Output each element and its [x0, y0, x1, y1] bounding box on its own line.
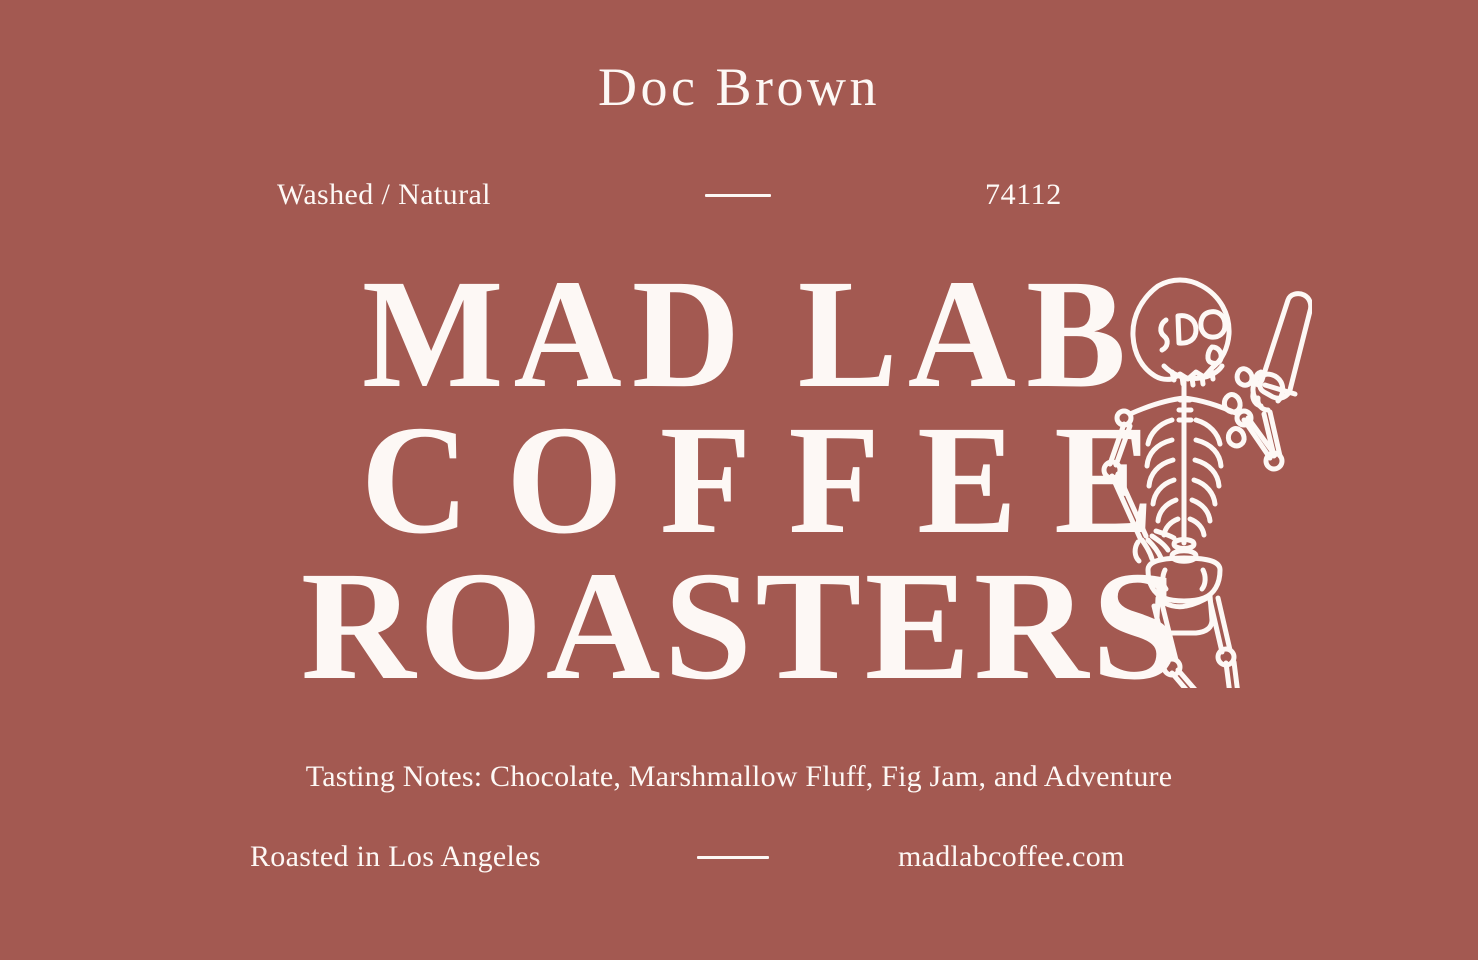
divider-rule-top-icon	[705, 194, 771, 197]
meta-row: Washed / Natural 74112	[0, 175, 1478, 215]
wordmark-line-coffee: COFFEE	[0, 402, 1478, 558]
footer-row: Roasted in Los Angeles madlabcoffee.com	[0, 836, 1478, 878]
divider-rule-bottom-icon	[697, 856, 769, 859]
lot-number: 74112	[985, 175, 1062, 215]
website-url: madlabcoffee.com	[898, 836, 1125, 878]
tasting-notes: Tasting Notes: Chocolate, Marshmallow Fl…	[0, 757, 1478, 797]
coffee-bag-label: Doc Brown Washed / Natural 74112 MAD LAB…	[0, 0, 1478, 960]
roasted-origin: Roasted in Los Angeles	[250, 836, 541, 878]
wordmark-line-mad-lab: MAD LAB	[0, 256, 1478, 412]
wordmark-line-roasters: ROASTERS	[0, 548, 1478, 704]
brand-wordmark: MAD LAB COFFEE ROASTERS	[0, 250, 1478, 690]
product-name: Doc Brown	[0, 60, 1478, 114]
process-method: Washed / Natural	[277, 175, 491, 215]
